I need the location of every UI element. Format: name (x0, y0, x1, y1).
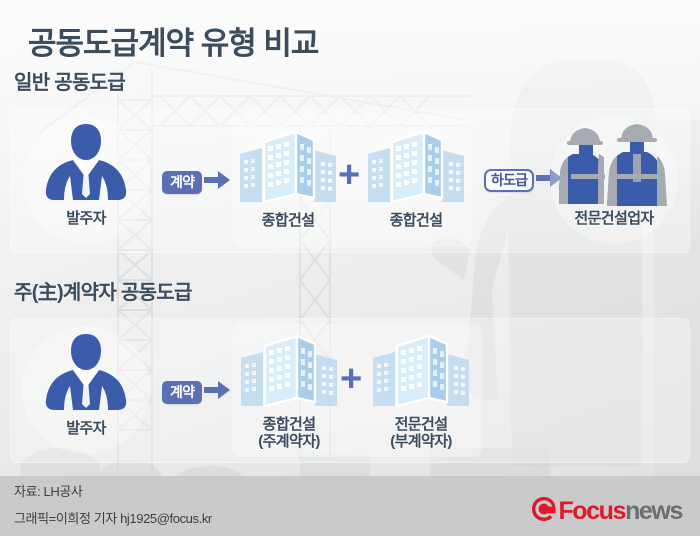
node-sublabel-builder-b: (부계약자) (366, 434, 476, 451)
logo-text-news: news (625, 499, 682, 524)
node-label-builder-b: 종합건설 (362, 213, 470, 230)
operator-plus-main: + (340, 360, 362, 398)
node-label-builder-a: 종합건설 (234, 417, 344, 434)
building-icon (362, 128, 470, 213)
node-label-client: 발주자 (22, 421, 150, 438)
footer-source: 자료: LH공사 (14, 481, 82, 500)
section-heading-main-contractor: 주(主)계약자 공동도급 (14, 276, 192, 305)
diagram-panel-general: 발주자 계약 (10, 108, 690, 253)
construction-workers-icon (550, 124, 678, 211)
node-specialist-general: 전문건설업자 (550, 124, 678, 228)
connector-contract-main: 계약 (162, 380, 230, 405)
arrow-right-icon (204, 380, 230, 405)
infographic-root: 공동도급계약 유형 비교 일반 공동도급 주(主)계약자 공동도급 발주자 계 (0, 0, 700, 536)
node-builder-b-main: 전문건설 (부계약자) (366, 332, 476, 451)
connector-contract-general: 계약 (162, 170, 230, 195)
connector-badge-label: 계약 (162, 171, 202, 194)
building-icon (234, 128, 342, 213)
diagram-panel-main-contractor: 발주자 계약 (10, 318, 690, 463)
node-builder-a-general: 종합건설 (234, 128, 342, 230)
building-icon (234, 332, 344, 417)
businessman-icon (22, 332, 150, 421)
node-client-main: 발주자 (22, 332, 150, 438)
focusnews-logo[interactable]: Focus news (531, 496, 682, 527)
node-label-specialist: 전문건설업자 (550, 211, 678, 228)
node-label-builder-b: 전문건설 (366, 417, 476, 434)
page-title: 공동도급계약 유형 비교 (28, 18, 318, 63)
node-client-general: 발주자 (22, 122, 150, 228)
logo-text-focus: Focus (558, 499, 625, 524)
node-sublabel-builder-a: (주계약자) (234, 434, 344, 451)
building-icon (366, 332, 476, 417)
operator-plus-general: + (338, 156, 360, 194)
node-builder-a-main: 종합건설 (주계약자) (234, 332, 344, 451)
node-label-builder-a: 종합건설 (234, 213, 342, 230)
connector-badge-label: 계약 (162, 381, 202, 404)
businessman-icon (22, 122, 150, 211)
section-heading-general: 일반 공동도급 (14, 66, 125, 95)
connector-badge-label: 하도급 (484, 169, 534, 192)
node-builder-b-general: 종합건설 (362, 128, 470, 230)
focus-swirl-icon (531, 496, 557, 527)
arrow-right-icon (204, 170, 230, 195)
node-label-client: 발주자 (22, 211, 150, 228)
footer-author: 그래픽=이희정 기자 hj1925@focus.kr (14, 508, 212, 527)
